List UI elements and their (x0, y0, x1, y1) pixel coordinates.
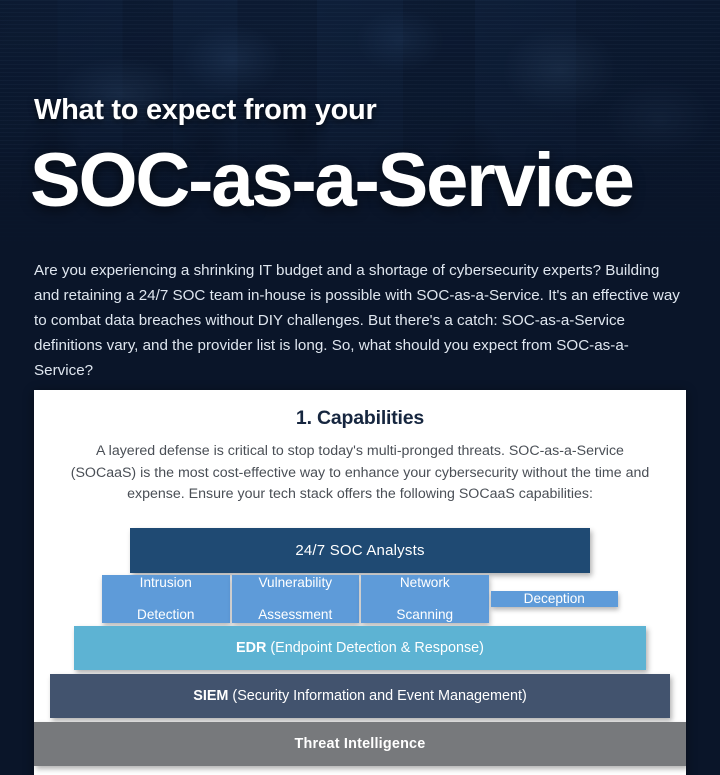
stack-layer-label: Threat Intelligence (295, 736, 426, 752)
section-heading: 1. Capabilities (34, 390, 686, 430)
stack-layer-soc-analysts: 24/7 SOC Analysts (130, 528, 590, 573)
hero-title: SOC-as-a-Service (30, 143, 633, 219)
tile-network-scanning: Network Scanning (361, 575, 489, 623)
stack-layer-threat-intelligence: Threat Intelligence (34, 722, 686, 766)
stack-layer-label-bold: EDR (236, 640, 266, 656)
capabilities-stack-chart: 24/7 SOC Analysts Intrusion Detection Vu… (34, 528, 686, 768)
stack-layer-label: 24/7 SOC Analysts (295, 542, 424, 559)
intro-paragraph: Are you experiencing a shrinking IT budg… (34, 258, 686, 383)
tile-deception: Deception (491, 591, 619, 607)
stack-layer-siem: SIEM (Security Information and Event Man… (50, 674, 670, 718)
tile-label-line1: Intrusion (137, 575, 194, 591)
stack-layer-detection-tiles: Intrusion Detection Vulnerability Assess… (102, 577, 618, 622)
stack-layer-edr: EDR (Endpoint Detection & Response) (74, 626, 646, 670)
tile-label-line2: Detection (137, 607, 194, 623)
tile-label-line2: Assessment (258, 607, 332, 623)
tile-label-line1: Network (396, 575, 453, 591)
stack-layer-label-rest: (Security Information and Event Manageme… (228, 688, 526, 704)
infographic-page: What to expect from your SOC-as-a-Servic… (0, 0, 720, 775)
tile-label-line1: Deception (524, 591, 585, 607)
stack-layer-label-rest: (Endpoint Detection & Response) (266, 640, 484, 656)
tile-intrusion-detection: Intrusion Detection (102, 575, 230, 623)
tile-vulnerability-assessment: Vulnerability Assessment (232, 575, 360, 623)
tile-label-line2: Scanning (396, 607, 453, 623)
stack-layer-label-bold: SIEM (193, 688, 228, 704)
section-body-text: A layered defense is critical to stop to… (68, 441, 652, 506)
hero-kicker: What to expect from your (34, 94, 376, 127)
tile-label-line1: Vulnerability (258, 575, 332, 591)
capabilities-card: 1. Capabilities A layered defense is cri… (34, 390, 686, 775)
